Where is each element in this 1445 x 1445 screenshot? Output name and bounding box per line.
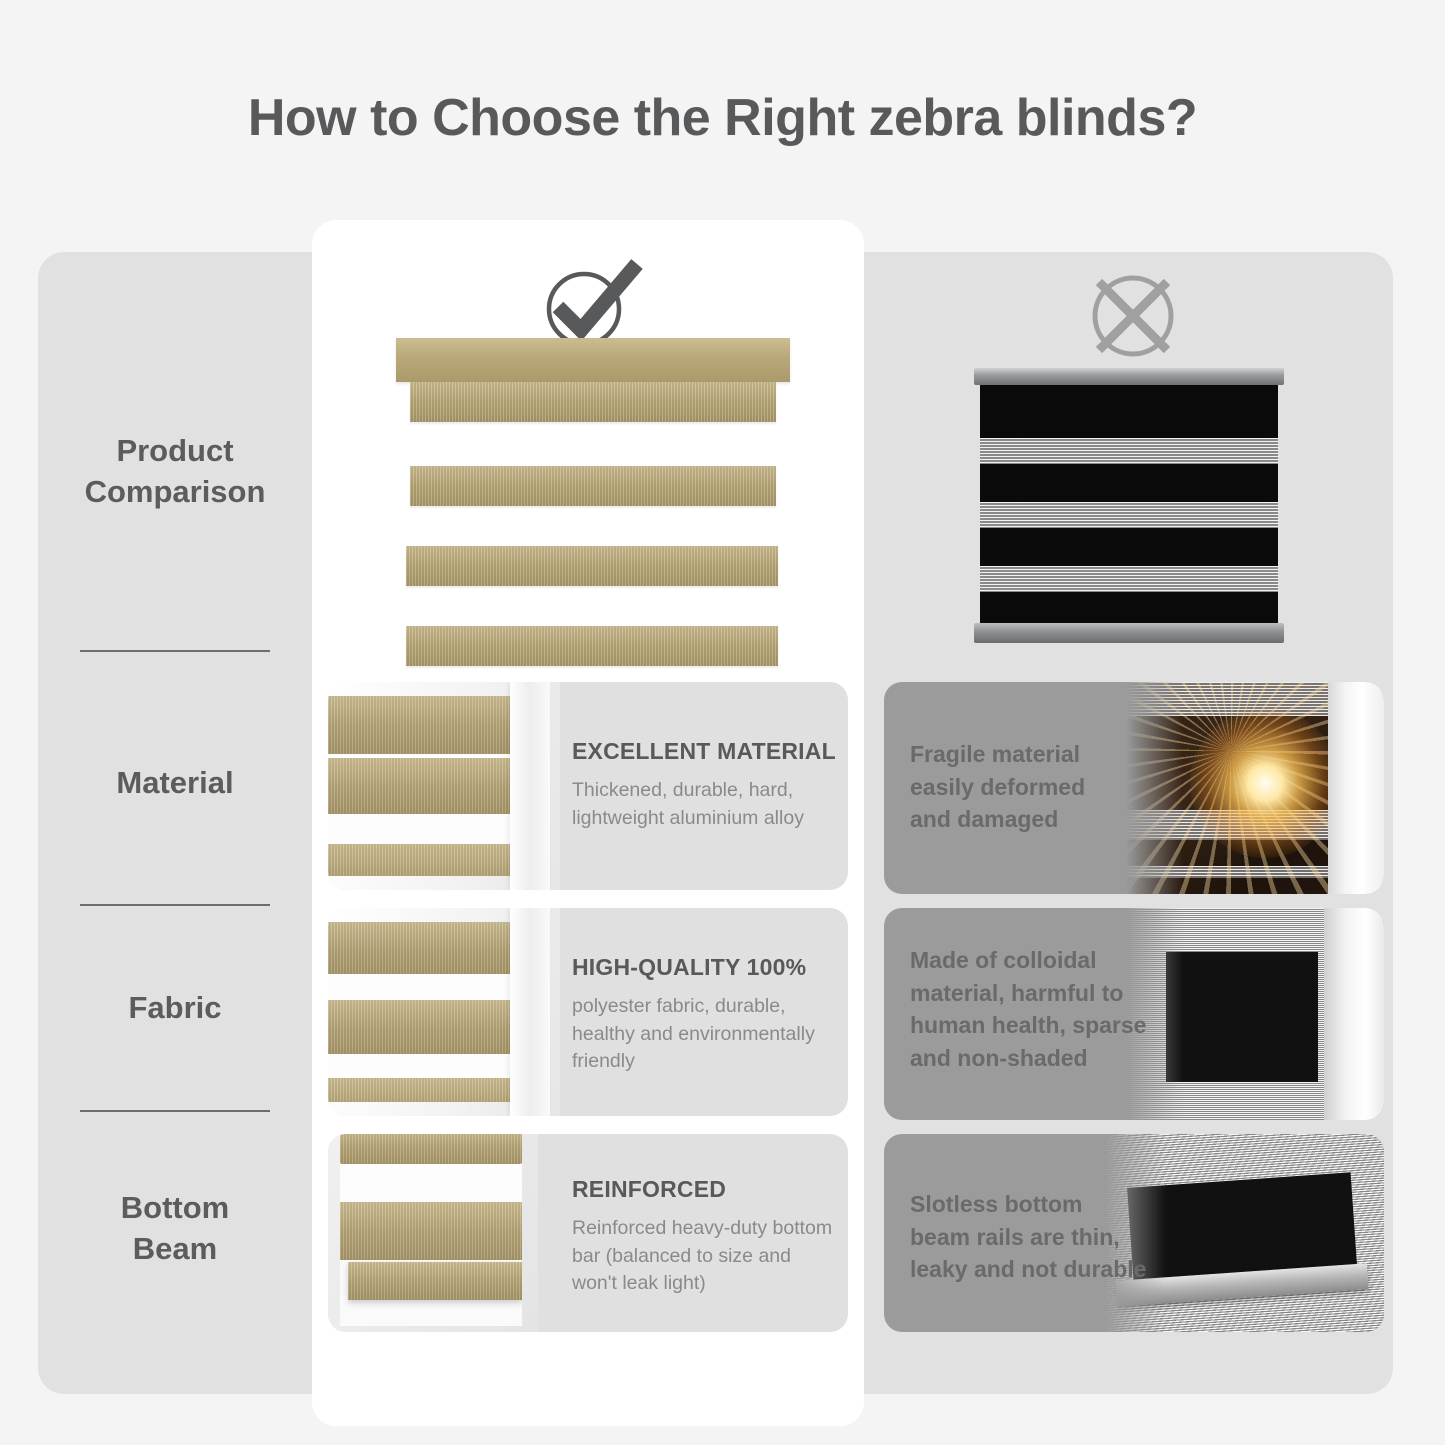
good-card-material-photo bbox=[328, 682, 560, 890]
page-title: How to Choose the Right zebra blinds? bbox=[0, 88, 1445, 148]
row-label-column: Product Comparison Material Fabric Botto… bbox=[38, 252, 312, 1394]
bad-card-bottom-beam-label: Slotless bottom beam rails are thin, lea… bbox=[910, 1188, 1160, 1286]
blind-slat bbox=[410, 382, 776, 422]
blind-sheer-stripe bbox=[980, 566, 1278, 592]
good-card-fabric-body: polyester fabric, durable, healthy and e… bbox=[572, 993, 844, 1076]
bad-card-fabric-label: Made of colloidal material, harmful to h… bbox=[910, 944, 1150, 1075]
bad-hero-blind-image bbox=[974, 368, 1284, 646]
photo-mask bbox=[1126, 908, 1384, 1120]
blind-headrail bbox=[396, 338, 790, 382]
good-card-fabric-heading: HIGH-QUALITY 100% bbox=[572, 954, 844, 981]
blind-slat bbox=[328, 922, 514, 974]
blind-slat bbox=[328, 1078, 514, 1102]
good-card-bottom-beam: REINFORCED Reinforced heavy-duty bottom … bbox=[328, 1134, 848, 1332]
good-card-material: EXCELLENT MATERIAL Thickened, durable, h… bbox=[328, 682, 848, 890]
good-hero-blind-image bbox=[396, 338, 790, 668]
blind-bottom-bar bbox=[348, 1262, 522, 1300]
bad-card-material-photo bbox=[1126, 682, 1384, 894]
blind-slat bbox=[340, 1134, 522, 1164]
window-opening bbox=[340, 1134, 522, 1326]
blind-slat bbox=[410, 466, 776, 506]
blind-gap bbox=[328, 1054, 514, 1078]
blind-slat bbox=[328, 1000, 514, 1054]
good-card-fabric: HIGH-QUALITY 100% polyester fabric, dura… bbox=[328, 908, 848, 1116]
blind-slat bbox=[328, 844, 514, 876]
row-divider-3 bbox=[80, 1110, 270, 1112]
bad-card-bottom-beam: Slotless bottom beam rails are thin, lea… bbox=[884, 1134, 1384, 1332]
blind-bottom-bar bbox=[974, 623, 1284, 643]
bad-card-fabric-photo bbox=[1126, 908, 1384, 1120]
window-edge bbox=[510, 682, 550, 890]
good-card-material-text: EXCELLENT MATERIAL Thickened, durable, h… bbox=[572, 738, 840, 832]
sun-flare-icon bbox=[1190, 708, 1340, 858]
good-card-bottom-beam-body: Reinforced heavy-duty bottom bar (balanc… bbox=[572, 1215, 844, 1298]
window-opening bbox=[328, 696, 514, 876]
blind-gap bbox=[328, 974, 514, 1000]
window-frame bbox=[1328, 682, 1384, 894]
blind-slat bbox=[328, 758, 514, 814]
bad-card-material: Fragile material easily deformed and dam… bbox=[884, 682, 1384, 894]
check-circle-icon bbox=[537, 252, 647, 352]
good-card-fabric-text: HIGH-QUALITY 100% polyester fabric, dura… bbox=[572, 954, 844, 1076]
blind-slat bbox=[340, 1202, 522, 1260]
bad-card-fabric-text: Made of colloidal material, harmful to h… bbox=[910, 944, 1150, 1075]
good-card-bottom-beam-text: REINFORCED Reinforced heavy-duty bottom … bbox=[572, 1176, 844, 1298]
infographic-page: How to Choose the Right zebra blinds? Pr… bbox=[0, 0, 1445, 1445]
bad-card-bottom-beam-text: Slotless bottom beam rails are thin, lea… bbox=[910, 1188, 1160, 1286]
bad-card-fabric: Made of colloidal material, harmful to h… bbox=[884, 908, 1384, 1120]
row-label-material: Material bbox=[38, 762, 312, 803]
window-edge bbox=[510, 908, 550, 1116]
good-card-bottom-beam-photo bbox=[328, 1134, 538, 1332]
blind-slat bbox=[406, 546, 778, 586]
blind-gap bbox=[340, 1164, 522, 1202]
good-card-fabric-photo bbox=[328, 908, 560, 1116]
row-divider-1 bbox=[80, 650, 270, 652]
window-opening bbox=[328, 922, 514, 1102]
row-label-product-comparison: Product Comparison bbox=[38, 430, 312, 512]
blind-gap bbox=[328, 814, 514, 844]
blind-headrail bbox=[974, 368, 1284, 385]
window-frame bbox=[1324, 908, 1384, 1120]
blind-sheer-stripe bbox=[980, 502, 1278, 528]
photo-mask bbox=[1126, 682, 1384, 894]
row-divider-2 bbox=[80, 904, 270, 906]
blind-slat bbox=[328, 696, 514, 754]
row-label-fabric: Fabric bbox=[38, 987, 312, 1028]
bad-card-material-text: Fragile material easily deformed and dam… bbox=[910, 738, 1140, 836]
dark-blind-panel bbox=[1166, 952, 1318, 1082]
good-card-bottom-beam-heading: REINFORCED bbox=[572, 1176, 844, 1203]
blind-sheer-stripe bbox=[980, 438, 1278, 464]
cross-circle-icon bbox=[1085, 268, 1181, 364]
blind-slat bbox=[406, 626, 778, 666]
blind-body bbox=[980, 385, 1278, 623]
dark-blind-panel bbox=[1127, 1172, 1357, 1279]
bad-card-material-label: Fragile material easily deformed and dam… bbox=[910, 738, 1140, 836]
row-label-bottom-beam: Bottom Beam bbox=[38, 1187, 312, 1269]
good-card-material-heading: EXCELLENT MATERIAL bbox=[572, 738, 840, 765]
good-card-material-body: Thickened, durable, hard, lightweight al… bbox=[572, 777, 840, 832]
